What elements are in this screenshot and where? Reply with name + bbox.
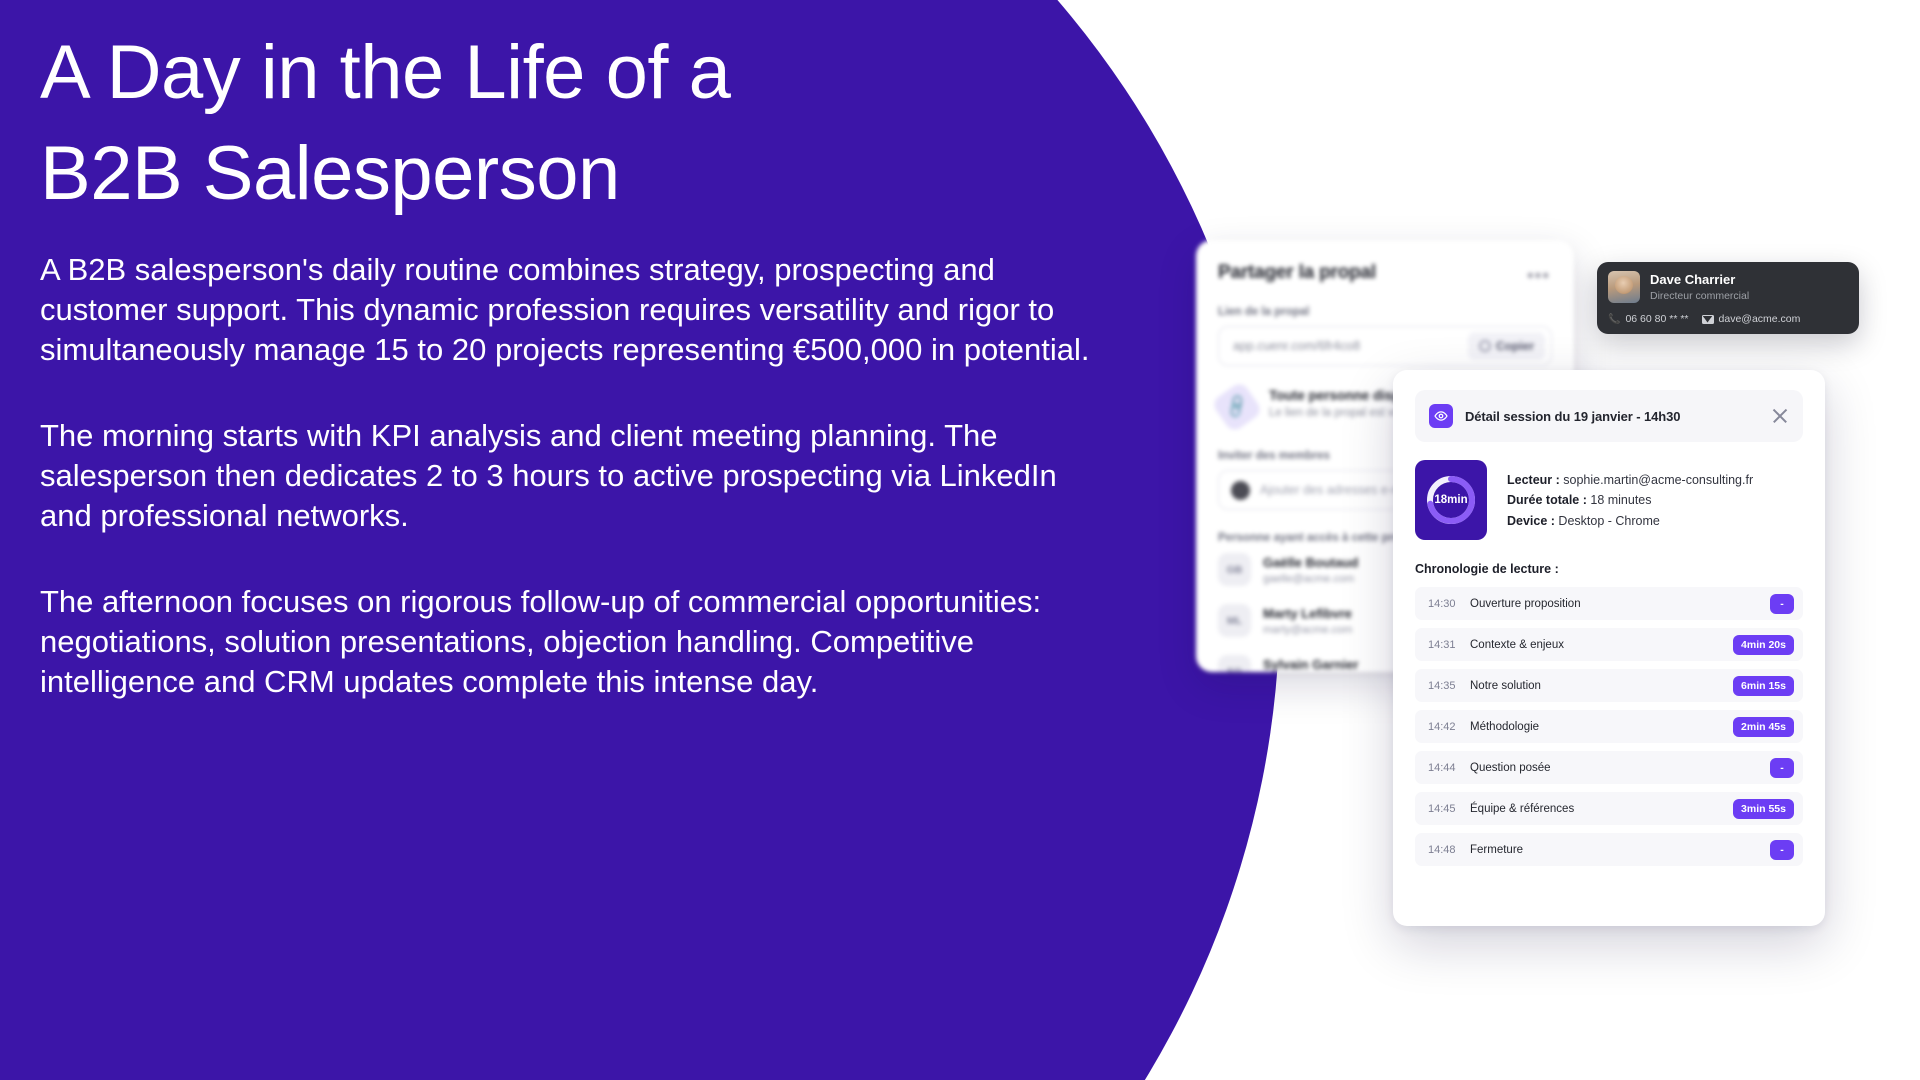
person-name: Sylvain Garnier bbox=[1263, 657, 1359, 672]
row-name: Fermeture bbox=[1470, 844, 1770, 856]
session-detail-header: Détail session du 19 janvier - 14h30 bbox=[1415, 390, 1803, 442]
avatar: GB bbox=[1218, 553, 1251, 586]
share-link-row[interactable]: app.cuenr.com/6fr4co8 Copier bbox=[1218, 326, 1552, 366]
table-row[interactable]: 14:35 Notre solution 6min 15s bbox=[1415, 669, 1803, 702]
status-badge: 4min 20s bbox=[1733, 635, 1794, 655]
page-title: A Day in the Life of a B2B Salesperson bbox=[40, 22, 1130, 224]
session-detail-card[interactable]: Détail session du 19 janvier - 14h30 18m… bbox=[1393, 370, 1825, 926]
duration-donut-label: 18min bbox=[1424, 473, 1478, 527]
phone-icon: 📞 bbox=[1608, 314, 1620, 325]
hero-body: A B2B salesperson's daily routine combin… bbox=[40, 250, 1115, 702]
invite-email-input[interactable]: Ajouter des adresses e-ma bbox=[1260, 483, 1409, 497]
table-row[interactable]: 14:30 Ouverture proposition - bbox=[1415, 587, 1803, 620]
avatar bbox=[1608, 271, 1640, 303]
duration-donut: 18min bbox=[1424, 473, 1478, 527]
session-meta: 18min Lecteur : sophie.martin@acme-consu… bbox=[1415, 460, 1803, 540]
contact-card[interactable]: Dave Charrier Directeur commercial 📞 06 … bbox=[1597, 262, 1859, 334]
contact-email-value: dave@acme.com bbox=[1719, 313, 1801, 325]
contact-card-header: Dave Charrier Directeur commercial bbox=[1608, 271, 1848, 303]
status-badge: 2min 45s bbox=[1733, 717, 1794, 737]
slide-canvas: A Day in the Life of a B2B Salesperson A… bbox=[0, 0, 1920, 1080]
meta-duration: Durée totale : 18 minutes bbox=[1507, 490, 1753, 510]
person-name: Gaëlle Boutaud bbox=[1263, 555, 1358, 570]
person-name: Marty Lefibvre bbox=[1263, 606, 1352, 621]
contact-phone-value: 06 60 80 ** ** bbox=[1625, 313, 1688, 325]
row-time: 14:48 bbox=[1428, 844, 1470, 856]
row-time: 14:31 bbox=[1428, 639, 1470, 651]
share-card-title: Partager la propal bbox=[1218, 262, 1552, 284]
row-time: 14:45 bbox=[1428, 803, 1470, 815]
hero-paragraph-3: The afternoon focuses on rigorous follow… bbox=[40, 582, 1115, 702]
row-time: 14:35 bbox=[1428, 680, 1470, 692]
row-time: 14:42 bbox=[1428, 721, 1470, 733]
copy-link-button[interactable]: Copier bbox=[1468, 332, 1545, 360]
row-name: Contexte & enjeux bbox=[1470, 639, 1733, 651]
row-name: Équipe & références bbox=[1470, 803, 1733, 815]
contact-phone[interactable]: 📞 06 60 80 ** ** bbox=[1608, 313, 1689, 325]
table-row[interactable]: 14:42 Méthodologie 2min 45s bbox=[1415, 710, 1803, 743]
row-name: Question posée bbox=[1470, 762, 1770, 774]
contact-card-footer: 📞 06 60 80 ** ** dave@acme.com bbox=[1608, 313, 1848, 325]
status-badge: 3min 55s bbox=[1733, 799, 1794, 819]
contact-name: Dave Charrier bbox=[1650, 272, 1749, 288]
row-time: 14:44 bbox=[1428, 762, 1470, 774]
table-row[interactable]: 14:31 Contexte & enjeux 4min 20s bbox=[1415, 628, 1803, 661]
session-detail-title: Détail session du 19 janvier - 14h30 bbox=[1465, 409, 1759, 424]
contact-role: Directeur commercial bbox=[1650, 290, 1749, 302]
meta-device: Device : Desktop - Chrome bbox=[1507, 511, 1753, 531]
session-meta-lines: Lecteur : sophie.martin@acme-consulting.… bbox=[1507, 460, 1753, 531]
table-row[interactable]: 14:48 Fermeture - bbox=[1415, 833, 1803, 866]
person-email: gaelle@acme.com bbox=[1263, 573, 1358, 585]
row-name: Ouverture proposition bbox=[1470, 598, 1770, 610]
meta-reader: Lecteur : sophie.martin@acme-consulting.… bbox=[1507, 470, 1753, 490]
avatar: ML bbox=[1218, 604, 1251, 637]
table-row[interactable]: 14:44 Question posée - bbox=[1415, 751, 1803, 784]
eye-icon bbox=[1429, 404, 1453, 428]
link-icon: 🔗 bbox=[1211, 381, 1264, 434]
status-badge: - bbox=[1770, 758, 1794, 778]
status-badge: - bbox=[1770, 840, 1794, 860]
avatar: SG bbox=[1218, 655, 1251, 672]
share-link-label: Lien de la propal bbox=[1218, 306, 1552, 318]
table-row[interactable]: 14:45 Équipe & références 3min 55s bbox=[1415, 792, 1803, 825]
row-time: 14:30 bbox=[1428, 598, 1470, 610]
close-icon[interactable] bbox=[1771, 407, 1789, 425]
hero-copy: A Day in the Life of a B2B Salesperson A… bbox=[40, 22, 1130, 702]
chronology-list: 14:30 Ouverture proposition - 14:31 Cont… bbox=[1415, 587, 1803, 866]
duration-donut-tile: 18min bbox=[1415, 460, 1487, 540]
mail-icon bbox=[1702, 315, 1714, 324]
row-name: Notre solution bbox=[1470, 680, 1733, 692]
invite-avatar-icon bbox=[1231, 481, 1250, 500]
hero-paragraph-1: A B2B salesperson's daily routine combin… bbox=[40, 250, 1115, 370]
status-badge: - bbox=[1770, 594, 1794, 614]
copy-icon bbox=[1479, 340, 1491, 352]
copy-button-label: Copier bbox=[1496, 339, 1534, 353]
row-name: Méthodologie bbox=[1470, 721, 1733, 733]
hero-paragraph-2: The morning starts with KPI analysis and… bbox=[40, 416, 1115, 536]
share-link-input[interactable]: app.cuenr.com/6fr4co8 bbox=[1233, 339, 1468, 353]
chronology-label: Chronologie de lecture : bbox=[1415, 562, 1803, 576]
status-badge: 6min 15s bbox=[1733, 676, 1794, 696]
contact-email[interactable]: dave@acme.com bbox=[1702, 313, 1801, 325]
share-card-menu-icon[interactable]: ••• bbox=[1527, 266, 1550, 288]
person-email: marty@acme.com bbox=[1263, 624, 1352, 636]
